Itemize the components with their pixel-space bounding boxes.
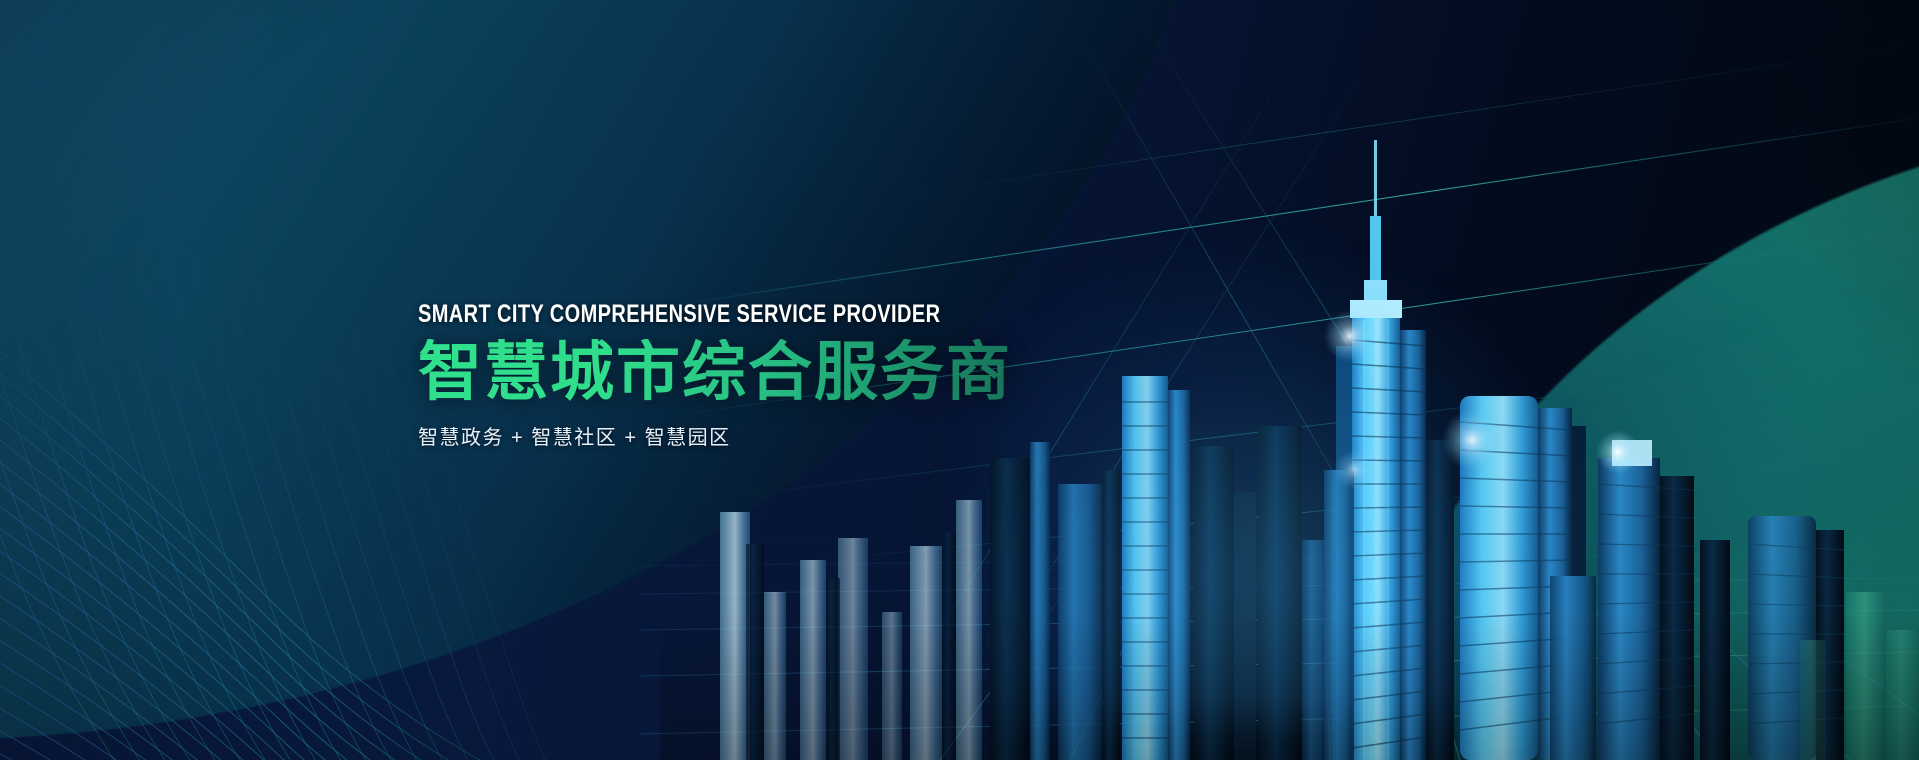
hero-headline: 智慧城市综合服务商 — [418, 339, 1138, 407]
hero-subline: 智慧政务 + 智慧社区 + 智慧园区 — [418, 421, 1138, 450]
hero-eyebrow: SMART CITY COMPREHENSIVE SERVICE PROVIDE… — [418, 300, 994, 329]
hero-banner: SMART CITY COMPREHENSIVE SERVICE PROVIDE… — [0, 0, 1919, 760]
hero-copy-block: SMART CITY COMPREHENSIVE SERVICE PROVIDE… — [418, 300, 1138, 450]
city-skyline-illustration — [660, 140, 1919, 760]
